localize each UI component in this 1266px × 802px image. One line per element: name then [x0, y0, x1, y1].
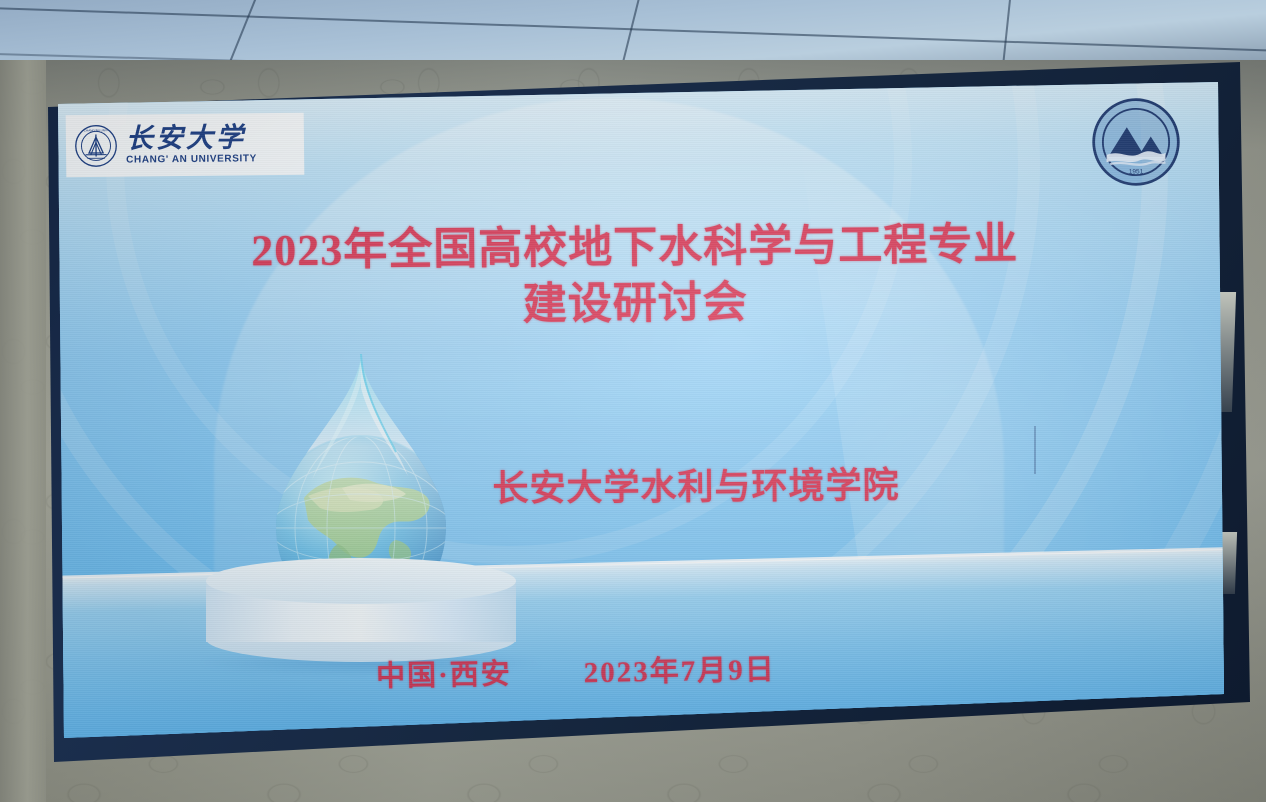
school-of-water-and-environment-seal-icon: 1951: [1090, 96, 1182, 188]
changan-university-logo: CHANG'AN UNIV 长安大学 CHANG' AN UNIVERSITY: [66, 113, 305, 177]
title-line-2: 建设研讨会: [46, 271, 1224, 338]
organizer-text: 长安大学水利与环境学院: [376, 455, 1016, 513]
university-name-cn: 长安大学: [126, 124, 257, 152]
changan-university-seal-icon: CHANG'AN UNIV: [74, 124, 118, 168]
wall-left-column: [0, 60, 46, 802]
university-name-en: CHANG' AN UNIVERSITY: [126, 154, 257, 165]
slide-title: 2023年全国高校地下水科学与工程专业 建设研讨会: [46, 215, 1224, 338]
text-caret-artifact: [1034, 426, 1036, 474]
svg-text:CHANG'AN UNIV: CHANG'AN UNIV: [84, 128, 109, 132]
title-line-1: 2023年全国高校地下水科学与工程专业: [46, 215, 1224, 282]
svg-text:1951: 1951: [1129, 168, 1144, 175]
footer-location: 中国·西安: [376, 651, 512, 695]
title-slide: CHANG'AN UNIV 长安大学 CHANG' AN UNIVERSITY …: [46, 78, 1224, 738]
led-presentation-screen[interactable]: CHANG'AN UNIV 长安大学 CHANG' AN UNIVERSITY …: [46, 78, 1224, 738]
presentation-room-photo: CHANG'AN UNIV 长安大学 CHANG' AN UNIVERSITY …: [0, 0, 1266, 802]
footer-date: 2023年7月9日: [583, 646, 776, 691]
